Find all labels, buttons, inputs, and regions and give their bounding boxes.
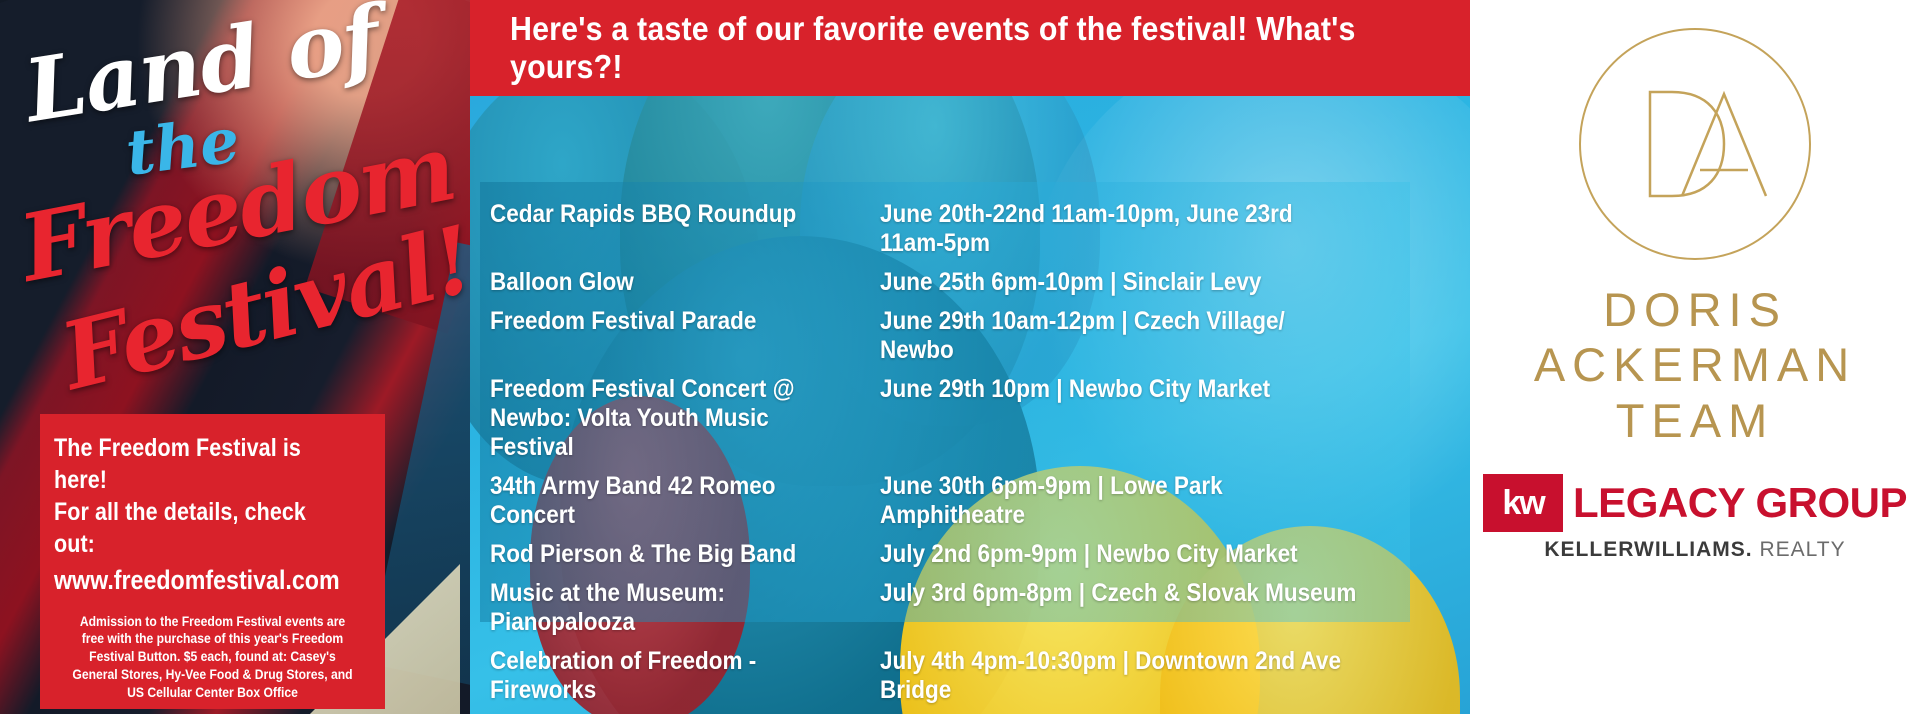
team-name-line-3: TEAM	[1534, 393, 1856, 448]
festival-website-link[interactable]: www.freedomfestival.com	[54, 560, 327, 601]
header-banner: Here's a taste of our favorite events of…	[470, 0, 1470, 96]
balloon-photo-background: Cedar Rapids BBQ Roundup June 20th-22nd …	[470, 96, 1470, 714]
team-name-line-1: DORIS	[1534, 282, 1856, 337]
header-title: Here's a taste of our favorite events of…	[510, 10, 1430, 86]
event-row: Cedar Rapids BBQ Roundup June 20th-22nd …	[490, 200, 1410, 258]
event-row: Balloon Glow June 25th 6pm-10pm | Sincla…	[490, 268, 1410, 297]
poster-script-title: Land of the Freedom Festival!	[0, 4, 470, 384]
event-details: July 3rd 6pm-8pm | Czech & Slovak Museum	[880, 579, 1357, 608]
event-row: Freedom Festival Concert @ Newbo: Volta …	[490, 375, 1410, 462]
event-name: Cedar Rapids BBQ Roundup	[490, 200, 841, 229]
events-panel: Here's a taste of our favorite events of…	[470, 0, 1470, 714]
event-name: Rod Pierson & The Big Band	[490, 540, 841, 569]
event-name: 34th Army Band 42 Romeo Concert	[490, 472, 841, 530]
admission-fine-print: Admission to the Freedom Festival events…	[70, 613, 355, 702]
kw-mark-icon: kw	[1483, 474, 1563, 532]
event-details: June 29th 10am-12pm | Czech Village/ New…	[880, 307, 1357, 365]
promotional-banner: Land of the Freedom Festival! The Freedo…	[0, 0, 1920, 714]
script-festival: Festival!	[51, 205, 483, 411]
event-details: June 29th 10pm | Newbo City Market	[880, 375, 1357, 404]
kw-tagline-bold: KELLERWILLIAMS.	[1544, 538, 1752, 561]
kw-realty-tagline: KELLERWILLIAMS. REALTY	[1544, 538, 1845, 562]
kw-group-name: LEGACY GROUP	[1573, 479, 1907, 527]
brand-panel: DORIS ACKERMAN TEAM kw LEGACY GROUP KELL…	[1470, 0, 1920, 714]
script-land-of: Land of	[18, 0, 386, 142]
poster-info-card: The Freedom Festival is here! For all th…	[40, 414, 385, 709]
event-row: Music at the Museum: Pianopalooza July 3…	[490, 579, 1410, 637]
kw-tagline-rest: REALTY	[1753, 538, 1846, 561]
event-details: June 25th 6pm-10pm | Sinclair Levy	[880, 268, 1357, 297]
event-row: Celebration of Freedom - Fireworks July …	[490, 647, 1410, 705]
cta-line-1: The Freedom Festival is here!	[54, 432, 327, 496]
script-the: the	[122, 103, 243, 189]
festival-poster-panel: Land of the Freedom Festival! The Freedo…	[0, 0, 470, 714]
event-details: June 30th 6pm-9pm | Lowe Park Amphitheat…	[880, 472, 1357, 530]
event-row: Rod Pierson & The Big Band July 2nd 6pm-…	[490, 540, 1410, 569]
event-name: Balloon Glow	[490, 268, 841, 297]
cta-line-2: For all the details, check out:	[54, 496, 327, 560]
event-details: June 20th-22nd 11am-10pm, June 23rd 11am…	[880, 200, 1357, 258]
script-freedom: Freedom	[12, 113, 463, 303]
event-name: Music at the Museum: Pianopalooza	[490, 579, 841, 637]
keller-williams-logo: kw LEGACY GROUP	[1483, 474, 1907, 532]
poster-balloon-shape	[310, 564, 460, 714]
event-row: Freedom Festival Parade June 29th 10am-1…	[490, 307, 1410, 365]
event-name: Freedom Festival Parade	[490, 307, 841, 336]
team-name: DORIS ACKERMAN TEAM	[1534, 282, 1856, 448]
da-monogram-icon	[1579, 28, 1811, 260]
event-name: Freedom Festival Concert @ Newbo: Volta …	[490, 375, 841, 462]
team-name-line-2: ACKERMAN	[1534, 337, 1856, 392]
event-name: Celebration of Freedom - Fireworks	[490, 647, 841, 705]
event-details: July 2nd 6pm-9pm | Newbo City Market	[880, 540, 1357, 569]
event-details: July 4th 4pm-10:30pm | Downtown 2nd Ave …	[880, 647, 1357, 705]
events-list: Cedar Rapids BBQ Roundup June 20th-22nd …	[480, 182, 1410, 714]
event-row: 34th Army Band 42 Romeo Concert June 30t…	[490, 472, 1410, 530]
